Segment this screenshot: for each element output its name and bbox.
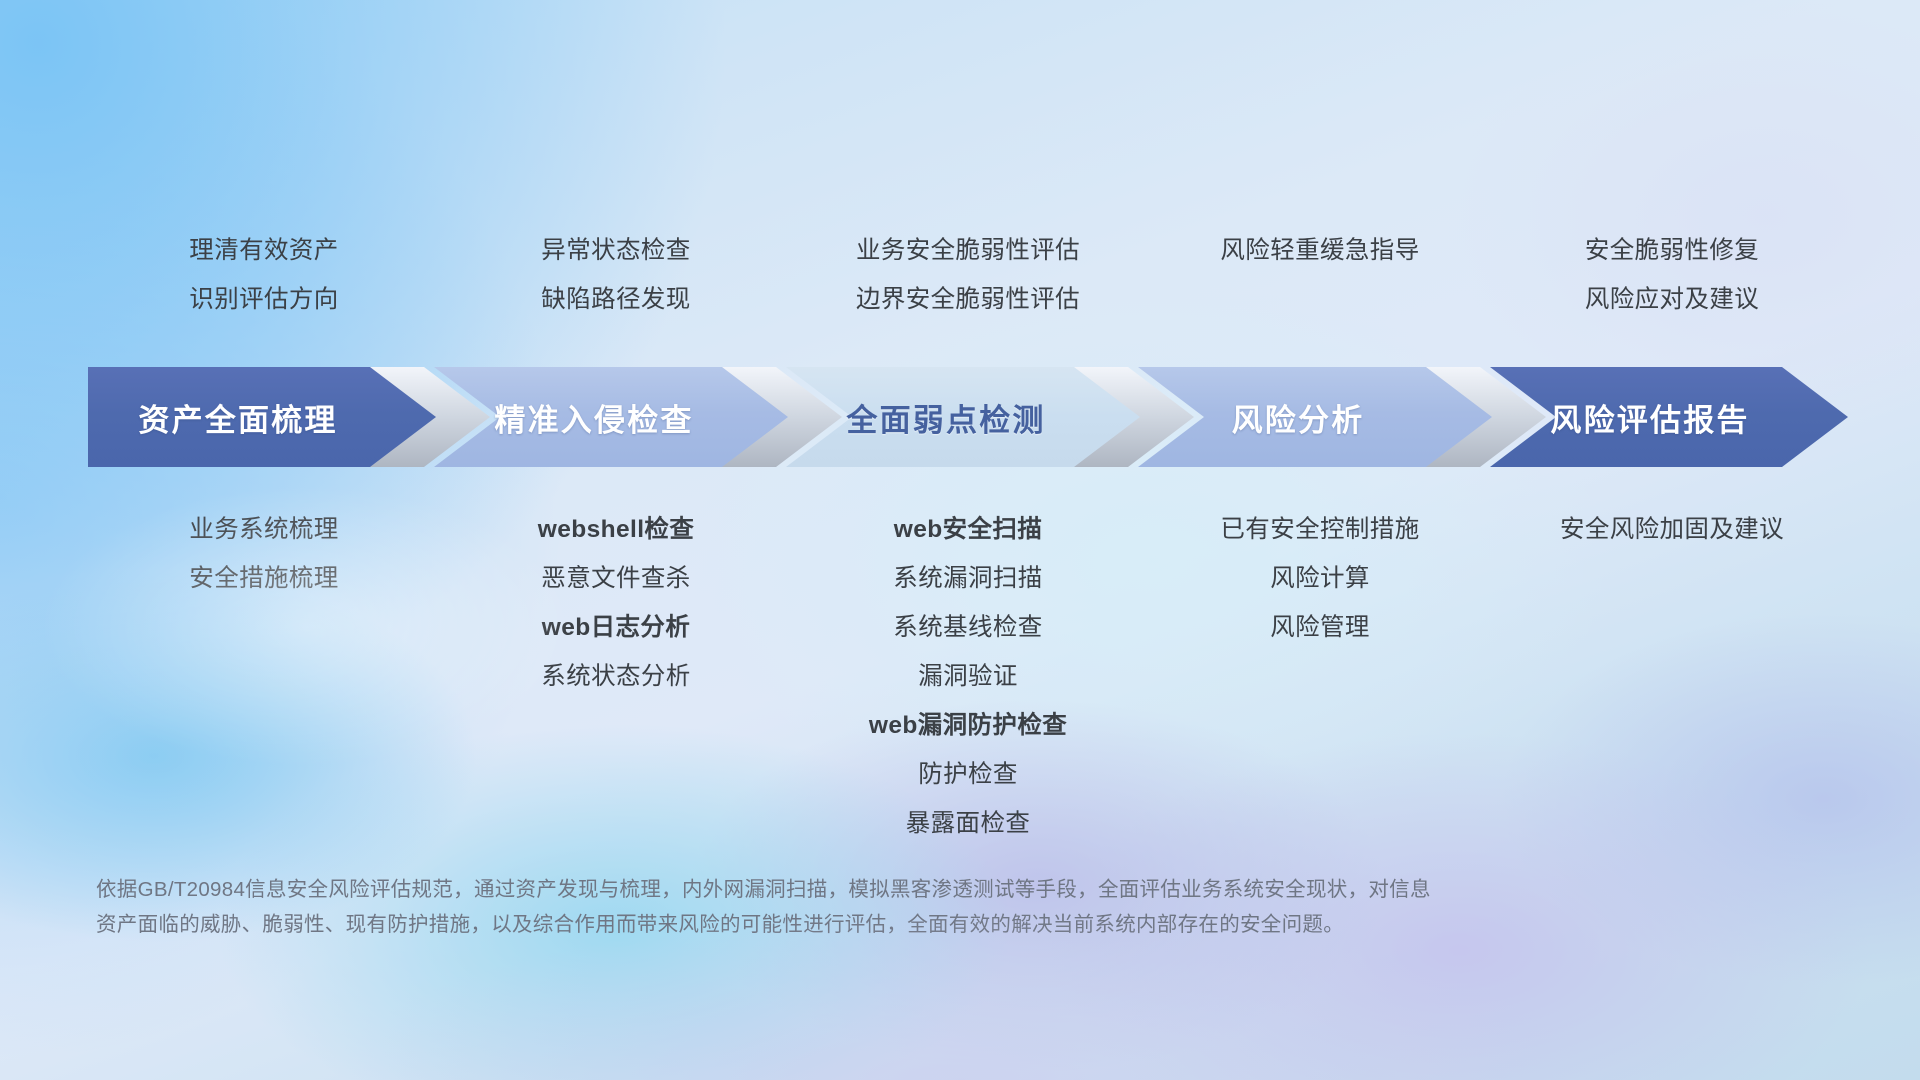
top-item: 异常状态检查 <box>440 226 792 275</box>
bottom-items-stage-3: web安全扫描系统漏洞扫描系统基线检查漏洞验证web漏洞防护检查防护检查暴露面检… <box>792 505 1144 848</box>
top-item: 风险应对及建议 <box>1496 275 1848 324</box>
bottom-item: 暴露面检查 <box>792 799 1144 848</box>
top-item: 安全脆弱性修复 <box>1496 226 1848 275</box>
bottom-item: 系统状态分析 <box>440 652 792 701</box>
process-arrow-band: 资产全面梳理 精准入侵检查 全面弱点检测 风险分析 风险评估报告 <box>88 367 1848 467</box>
bottom-item: 已有安全控制措施 <box>1144 505 1496 554</box>
bottom-items-row: 业务系统梳理安全措施梳理 webshell检查恶意文件查杀web日志分析系统状态… <box>88 505 1848 848</box>
top-items-stage-2: 异常状态检查缺陷路径发现 <box>440 226 792 324</box>
footer-line-2: 资产面临的威胁、脆弱性、现有防护措施，以及综合作用而带来风险的可能性进行评估，全… <box>96 907 1616 942</box>
top-item: 业务安全脆弱性评估 <box>792 226 1144 275</box>
bottom-item: web日志分析 <box>440 603 792 652</box>
bottom-item: 风险管理 <box>1144 603 1496 652</box>
top-item: 理清有效资产 <box>88 226 440 275</box>
top-items-stage-4: 风险轻重缓急指导 <box>1144 226 1496 324</box>
bottom-items-stage-5: 安全风险加固及建议 <box>1496 505 1848 848</box>
arrow-shape-stage-1 <box>88 367 436 467</box>
bottom-item: web漏洞防护检查 <box>792 701 1144 750</box>
bottom-item: 漏洞验证 <box>792 652 1144 701</box>
bottom-item: 安全措施梳理 <box>88 554 440 603</box>
top-items-stage-3: 业务安全脆弱性评估边界安全脆弱性评估 <box>792 226 1144 324</box>
footer-line-1: 依据GB/T20984信息安全风险评估规范，通过资产发现与梳理，内外网漏洞扫描，… <box>96 872 1616 907</box>
bottom-item: 业务系统梳理 <box>88 505 440 554</box>
bottom-item: 风险计算 <box>1144 554 1496 603</box>
bottom-item: web安全扫描 <box>792 505 1144 554</box>
bottom-item: 恶意文件查杀 <box>440 554 792 603</box>
top-item: 风险轻重缓急指导 <box>1144 226 1496 275</box>
top-items-stage-5: 安全脆弱性修复风险应对及建议 <box>1496 226 1848 324</box>
bottom-item: 系统基线检查 <box>792 603 1144 652</box>
arrow-band-svg <box>88 367 1848 467</box>
top-item: 缺陷路径发现 <box>440 275 792 324</box>
slide-canvas: 理清有效资产识别评估方向 异常状态检查缺陷路径发现 业务安全脆弱性评估边界安全脆… <box>0 0 1920 1080</box>
bottom-item: 防护检查 <box>792 750 1144 799</box>
bottom-item: 安全风险加固及建议 <box>1496 505 1848 554</box>
bottom-item: 系统漏洞扫描 <box>792 554 1144 603</box>
bottom-items-stage-1: 业务系统梳理安全措施梳理 <box>88 505 440 848</box>
top-items-row: 理清有效资产识别评估方向 异常状态检查缺陷路径发现 业务安全脆弱性评估边界安全脆… <box>88 226 1848 324</box>
footer-description: 依据GB/T20984信息安全风险评估规范，通过资产发现与梳理，内外网漏洞扫描，… <box>96 872 1616 942</box>
bottom-items-stage-2: webshell检查恶意文件查杀web日志分析系统状态分析 <box>440 505 792 848</box>
bottom-item: webshell检查 <box>440 505 792 554</box>
bottom-items-stage-4: 已有安全控制措施风险计算风险管理 <box>1144 505 1496 848</box>
top-item: 边界安全脆弱性评估 <box>792 275 1144 324</box>
top-items-stage-1: 理清有效资产识别评估方向 <box>88 226 440 324</box>
top-item: 识别评估方向 <box>88 275 440 324</box>
